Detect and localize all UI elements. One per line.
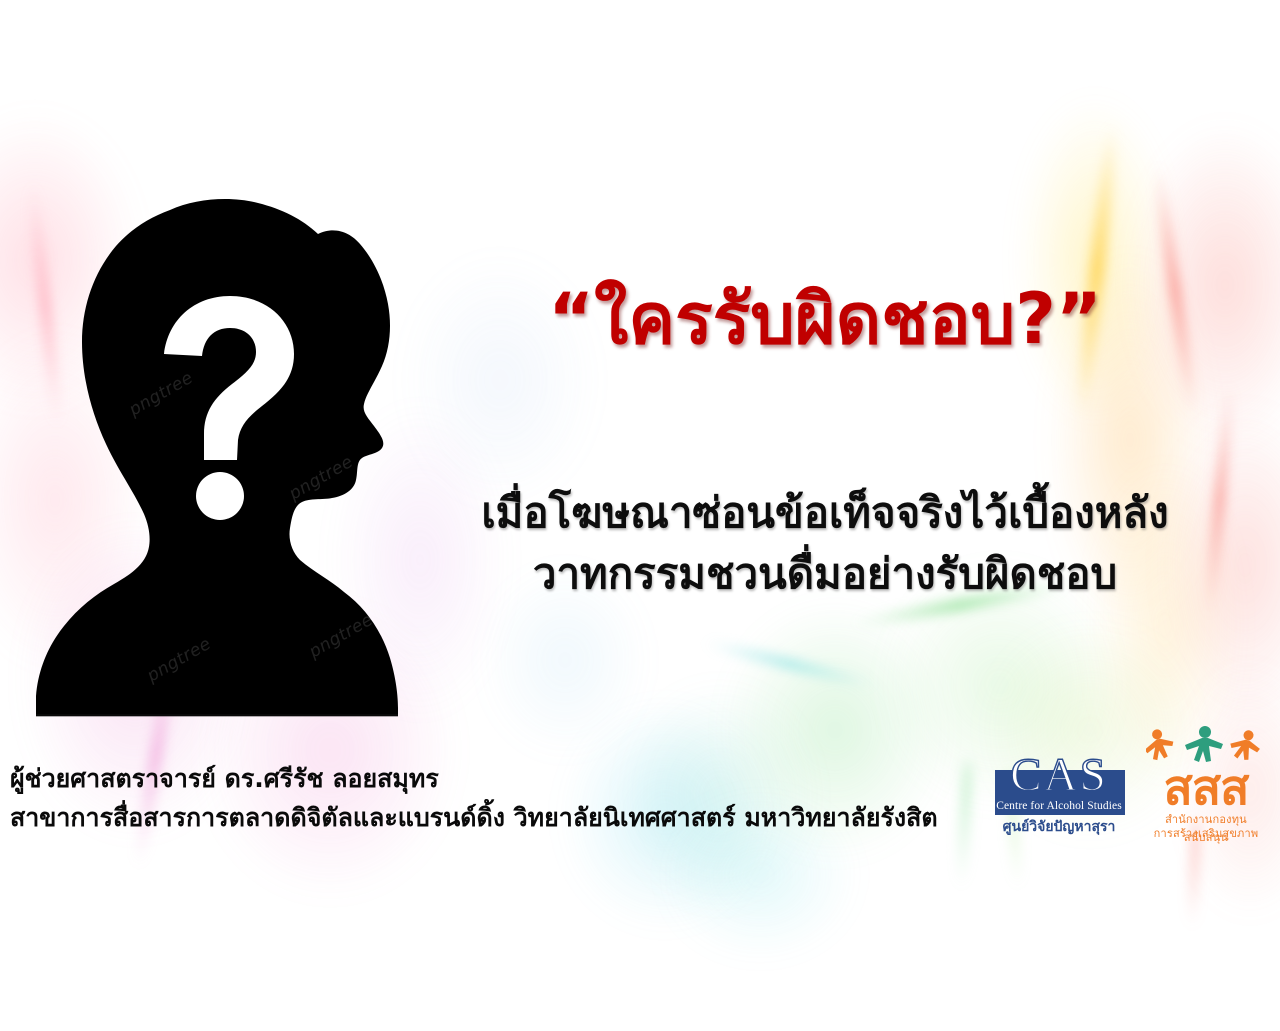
thaihealth-logo-line-2: การสร้างเสริมสุขภาพ xyxy=(1146,824,1266,842)
cas-logo: CAS Centre for Alcohol Studies ศูนย์วิจั… xyxy=(988,748,1130,836)
slide-subtitle: เมื่อโฆษณาซ่อนข้อเท็จจริงไว้เบื้องหลัง ว… xyxy=(420,483,1230,605)
cas-logo-acronym: CAS xyxy=(988,748,1130,803)
slide-subtitle-line-2: วาทกรรมชวนดื่มอย่างรับผิดชอบ xyxy=(420,544,1230,605)
cas-logo-thai-name: ศูนย์วิจัยปัญหาสุรา xyxy=(988,816,1130,838)
slide-headline: “ใครรับผิดชอบ?” xyxy=(430,283,1220,357)
author-name: ผู้ช่วยศาสตราจารย์ ดร.ศรีรัช ลอยสมุทร xyxy=(10,760,938,799)
head-silhouette-icon xyxy=(18,196,418,728)
presentation-slide: pngtree pngtree pngtree pngtree “ใครรับผ… xyxy=(0,0,1280,1031)
cas-logo-subtitle: Centre for Alcohol Studies xyxy=(988,800,1130,812)
slide-subtitle-line-1: เมื่อโฆษณาซ่อนข้อเท็จจริงไว้เบื้องหลัง xyxy=(420,483,1230,544)
author-affiliation: สาขาการสื่อสารการตลาดดิจิตัลและแบรนด์ดิ้… xyxy=(10,799,938,838)
thaihealth-logo-acronym: สสส xyxy=(1146,760,1266,816)
author-credits: ผู้ช่วยศาสตราจารย์ ดร.ศรีรัช ลอยสมุทร สา… xyxy=(10,760,938,838)
thaihealth-logo: สสส สำนักงานกองทุนสนับสนุน การสร้างเสริม… xyxy=(1146,726,1266,838)
head-silhouette-image: pngtree pngtree pngtree pngtree xyxy=(18,196,418,728)
